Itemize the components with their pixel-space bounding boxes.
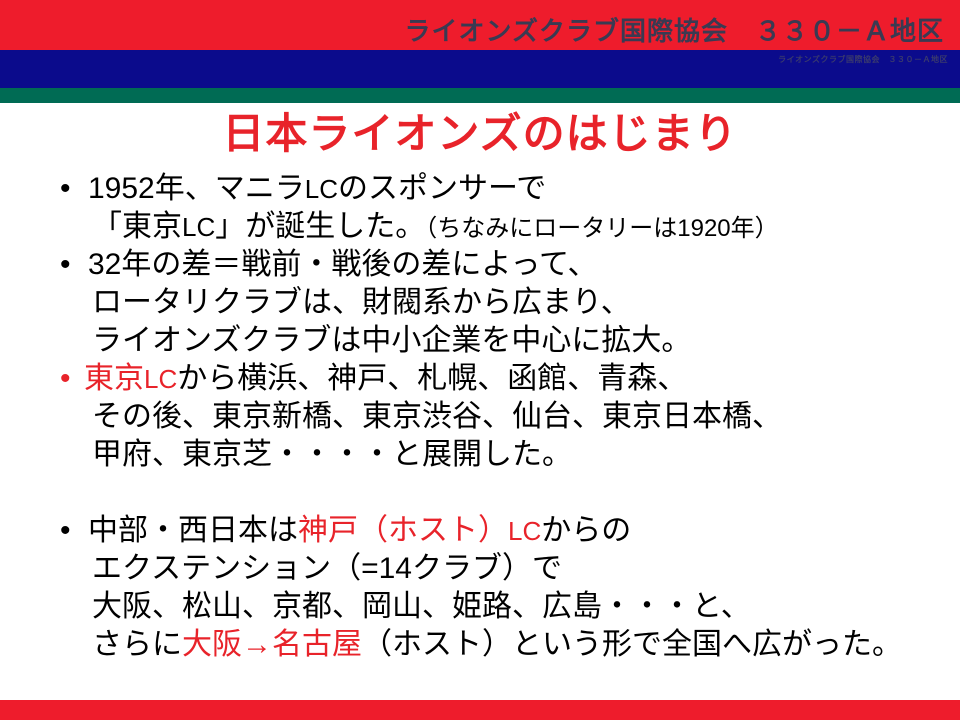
bullet-item: •32年の差＝戦前・戦後の差によって、ロータリクラブは、財閥系から広まり、ライオ…: [0, 246, 960, 360]
text-run: （ちなみにロータリーは1920年）: [425, 215, 778, 242]
bullet-first-line: •32年の差＝戦前・戦後の差によって、: [0, 246, 960, 284]
bullet-continuation-line: エクステンション（=14クラブ）で: [0, 550, 960, 588]
bullet-marker-icon: •: [60, 246, 80, 284]
text-run: から横浜、神戸、札幌、函館、青森、: [177, 362, 687, 395]
text-run: ライオンズクラブは中小企業を中心に拡大。: [92, 324, 691, 357]
bullet-item: •中部・西日本は神戸（ホスト）LCからのエクステンション（=14クラブ）で大阪、…: [0, 512, 960, 664]
bullet-item: •1952年、マニラLCのスポンサーで「東京LC」が誕生した。（ちなみにロータリ…: [0, 170, 960, 246]
bullet-item: •東京LCから横浜、神戸、札幌、函館、青森、その後、東京新橋、東京渋谷、仙台、東…: [0, 360, 960, 474]
organization-title: ライオンズクラブ国際協会 ３３０－Ａ地区: [405, 18, 944, 44]
highlighted-text-run: LC: [508, 516, 541, 546]
text-run: 32年の差＝戦前・戦後の差によって、: [88, 248, 597, 281]
text-run: LC: [182, 212, 215, 242]
bullet-marker-icon: •: [60, 360, 80, 398]
bullet-first-line: •東京LCから横浜、神戸、札幌、函館、青森、: [0, 360, 960, 398]
bullet-first-line: •中部・西日本は神戸（ホスト）LCからの: [0, 512, 960, 550]
text-run: （ホスト）という形で全国へ広がった。: [362, 628, 902, 661]
bullet-continuation-line: さらに大阪→名古屋（ホスト）という形で全国へ広がった。: [0, 626, 960, 664]
bullet-first-line: •1952年、マニラLCのスポンサーで: [0, 170, 960, 208]
text-run: LC: [305, 174, 338, 204]
bullet-marker-icon: •: [60, 170, 80, 208]
bullet-continuation-line: 甲府、東京芝・・・・と展開した。: [0, 436, 960, 474]
text-run: 中部・西日本は: [88, 514, 298, 547]
slide-body: •1952年、マニラLCのスポンサーで「東京LC」が誕生した。（ちなみにロータリ…: [0, 170, 960, 664]
page-title: 日本ライオンズのはじまり: [0, 113, 960, 155]
bullet-continuation-line: 大阪、松山、京都、岡山、姫路、広島・・・と、: [0, 588, 960, 626]
bullet-spacer: [0, 474, 960, 512]
text-run: その後、東京新橋、東京渋谷、仙台、東京日本橋、: [92, 400, 782, 433]
highlighted-text-run: LC: [144, 364, 177, 394]
text-run: エクステンション（=14クラブ）で: [92, 552, 562, 585]
highlighted-text-run: 東京: [84, 362, 144, 395]
highlighted-text-run: 神戸（ホスト）: [298, 514, 508, 547]
organization-subtitle: ライオンズクラブ国際協会 ３３０－Ａ地区: [778, 56, 948, 64]
highlighted-text-run: 大阪→名古屋: [182, 628, 362, 661]
text-run: 「東京: [92, 210, 182, 243]
text-run: さらに: [92, 628, 182, 661]
text-run: 」が誕生した。: [215, 210, 425, 243]
text-run: 1952年、マニラ: [88, 172, 305, 205]
text-run: ロータリクラブは、財閥系から広まり、: [92, 286, 631, 319]
footer-band-red: [0, 700, 960, 720]
bullet-marker-icon: •: [60, 512, 80, 550]
text-run: 大阪、松山、京都、岡山、姫路、広島・・・と、: [92, 590, 751, 623]
bullet-continuation-line: その後、東京新橋、東京渋谷、仙台、東京日本橋、: [0, 398, 960, 436]
bullet-continuation-line: ロータリクラブは、財閥系から広まり、: [0, 284, 960, 322]
slide: ライオンズクラブ国際協会 ３３０－Ａ地区 ライオンズクラブ国際協会 ３３０－Ａ地…: [0, 0, 960, 720]
text-run: のスポンサーで: [338, 172, 546, 205]
header-band-green: [0, 88, 960, 103]
text-run: からの: [541, 514, 631, 547]
bullet-continuation-line: 「東京LC」が誕生した。（ちなみにロータリーは1920年）: [0, 208, 960, 246]
bullet-continuation-line: ライオンズクラブは中小企業を中心に拡大。: [0, 322, 960, 360]
text-run: 甲府、東京芝・・・・と展開した。: [92, 438, 572, 471]
